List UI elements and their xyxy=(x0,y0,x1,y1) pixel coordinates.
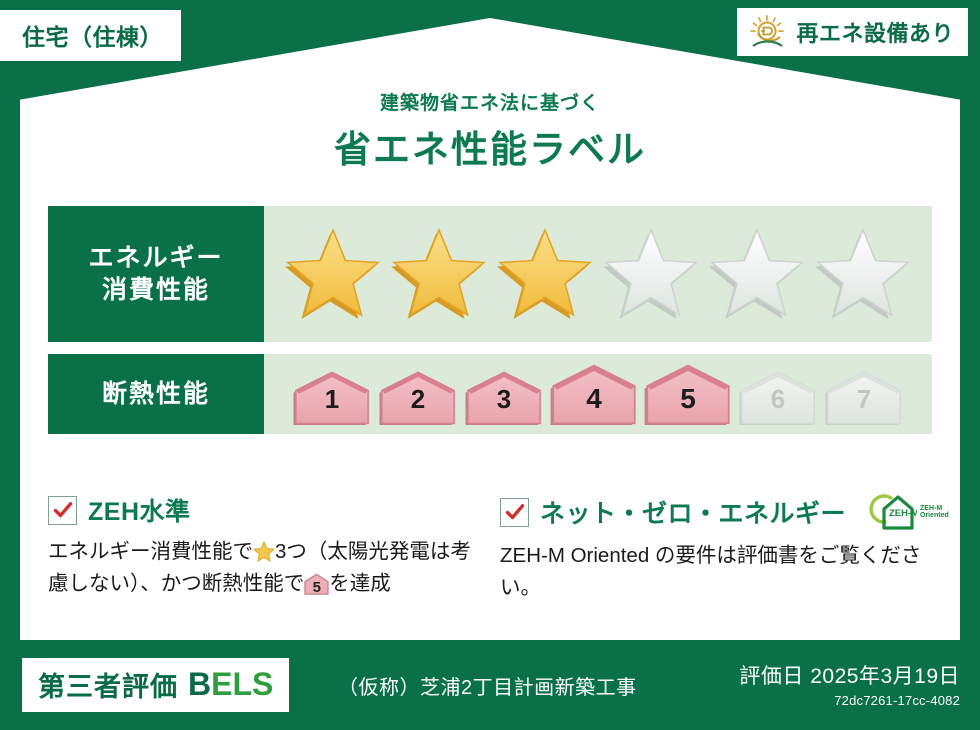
rating-rows: エネルギー 消費性能 断熱性能 1234567 xyxy=(48,206,932,446)
bels-letter-b: B xyxy=(188,666,211,702)
zeh-standard-header: ZEH水準 xyxy=(48,492,478,528)
bels-letters-els: ELS xyxy=(211,666,273,702)
zeh-m-logo-text: ZEH-M xyxy=(889,508,917,519)
evaluation-date: 評価日 2025年3月19日 xyxy=(739,660,960,690)
zeh-standard-description: エネルギー消費性能で3つ（太陽光発電は考慮しない）、かつ断熱性能で5を達成 xyxy=(48,536,478,600)
energy-label-line2: 消費性能 xyxy=(102,274,210,306)
zeh-desc-part3: を達成 xyxy=(329,572,391,595)
star-empty-icon xyxy=(813,226,913,322)
energy-label-line1: エネルギー xyxy=(88,242,223,274)
label-subtitle: 建築物省エネ法に基づく xyxy=(0,88,980,115)
zeh-m-oriented-logo: ZEH-M ZEH-M Oriented xyxy=(865,492,949,532)
bels-energy-label: 住宅（住棟） 再エネ設備あり 建築物省エネ法に基づく 省エネ性能ラベル xyxy=(0,0,980,730)
insulation-house-list: 1234567 xyxy=(290,363,906,425)
house-filled-icon xyxy=(376,370,460,425)
footer-bar: 第三者評価 BELS （仮称）芝浦2丁目計画新築工事 評価日 2025年3月19… xyxy=(0,644,980,730)
zeh-m-house-icon: ZEH-M xyxy=(865,492,917,532)
zeh-m-caption-line1: ZEH-M xyxy=(920,505,942,512)
insulation-performance-label: 断熱性能 xyxy=(48,354,264,434)
star-empty-icon xyxy=(601,226,701,322)
nzeb-title: ネット・ゼロ・エネルギー xyxy=(540,494,846,530)
info-columns: ZEH水準 エネルギー消費性能で3つ（太陽光発電は考慮しない）、かつ断熱性能で5… xyxy=(48,492,938,604)
insulation-level-6: 6 xyxy=(736,370,820,425)
house-filled-icon xyxy=(642,363,734,425)
insulation-level-5: 5 xyxy=(642,363,734,425)
checkmark-icon xyxy=(500,498,529,527)
star-filled-icon xyxy=(389,226,489,322)
insulation-rating: 1234567 xyxy=(264,354,932,434)
zeh-m-caption-line2: Oriented xyxy=(920,512,949,519)
star-icon-inline xyxy=(253,540,275,561)
building-type-chip: 住宅（住棟） xyxy=(0,10,181,61)
zeh-standard-title: ZEH水準 xyxy=(88,492,191,528)
checkmark-icon xyxy=(48,496,77,525)
bels-jp-text: 第三者評価 xyxy=(38,665,178,704)
nzeb-description: ZEH-M Oriented の要件は評価書をご覧ください。 xyxy=(500,540,949,604)
house-filled-icon xyxy=(462,370,546,425)
insulation-level-2: 2 xyxy=(376,370,460,425)
evaluation-info: 評価日 2025年3月19日 72dc7261-17cc-4082 xyxy=(739,660,960,708)
label-heading: 建築物省エネ法に基づく 省エネ性能ラベル xyxy=(0,88,980,173)
house-filled-icon xyxy=(290,370,374,425)
bels-logo: 第三者評価 BELS xyxy=(22,658,289,712)
building-name: （仮称）芝浦2丁目計画新築工事 xyxy=(338,671,637,700)
label-title: 省エネ性能ラベル xyxy=(0,119,980,173)
reference-id: 72dc7261-17cc-4082 xyxy=(739,693,960,708)
energy-performance-label: エネルギー 消費性能 xyxy=(48,206,264,342)
renewable-badge-label: 再エネ設備あり xyxy=(796,16,954,48)
nzeb-block: ネット・ゼロ・エネルギー ZEH-M ZEH-M Oriented ZEH-M … xyxy=(500,492,949,604)
house-empty-icon xyxy=(736,370,820,425)
insulation-level-7: 7 xyxy=(822,370,906,425)
star-empty-icon xyxy=(707,226,807,322)
house-icon-inline: 5 xyxy=(304,573,329,595)
insulation-level-4: 4 xyxy=(548,363,640,425)
zeh-m-logo-caption: ZEH-M Oriented xyxy=(920,505,949,520)
renewable-equipment-badge: 再エネ設備あり xyxy=(737,8,968,56)
house-icon-value: 5 xyxy=(304,580,329,595)
solar-sun-icon xyxy=(747,14,787,50)
zeh-desc-part1: エネルギー消費性能で xyxy=(48,540,253,563)
zeh-standard-block: ZEH水準 エネルギー消費性能で3つ（太陽光発電は考慮しない）、かつ断熱性能で5… xyxy=(48,492,478,604)
insulation-level-1: 1 xyxy=(290,370,374,425)
star-rating xyxy=(264,206,932,342)
insulation-level-3: 3 xyxy=(462,370,546,425)
insulation-performance-row: 断熱性能 1234567 xyxy=(48,354,932,434)
nzeb-header: ネット・ゼロ・エネルギー ZEH-M ZEH-M Oriented xyxy=(500,492,949,532)
house-empty-icon xyxy=(822,370,906,425)
energy-performance-row: エネルギー 消費性能 xyxy=(48,206,932,342)
star-filled-icon xyxy=(495,226,595,322)
house-filled-icon xyxy=(548,363,640,425)
bels-en-text: BELS xyxy=(188,666,273,703)
insulation-label-text: 断熱性能 xyxy=(102,378,210,410)
star-filled-icon xyxy=(283,226,383,322)
